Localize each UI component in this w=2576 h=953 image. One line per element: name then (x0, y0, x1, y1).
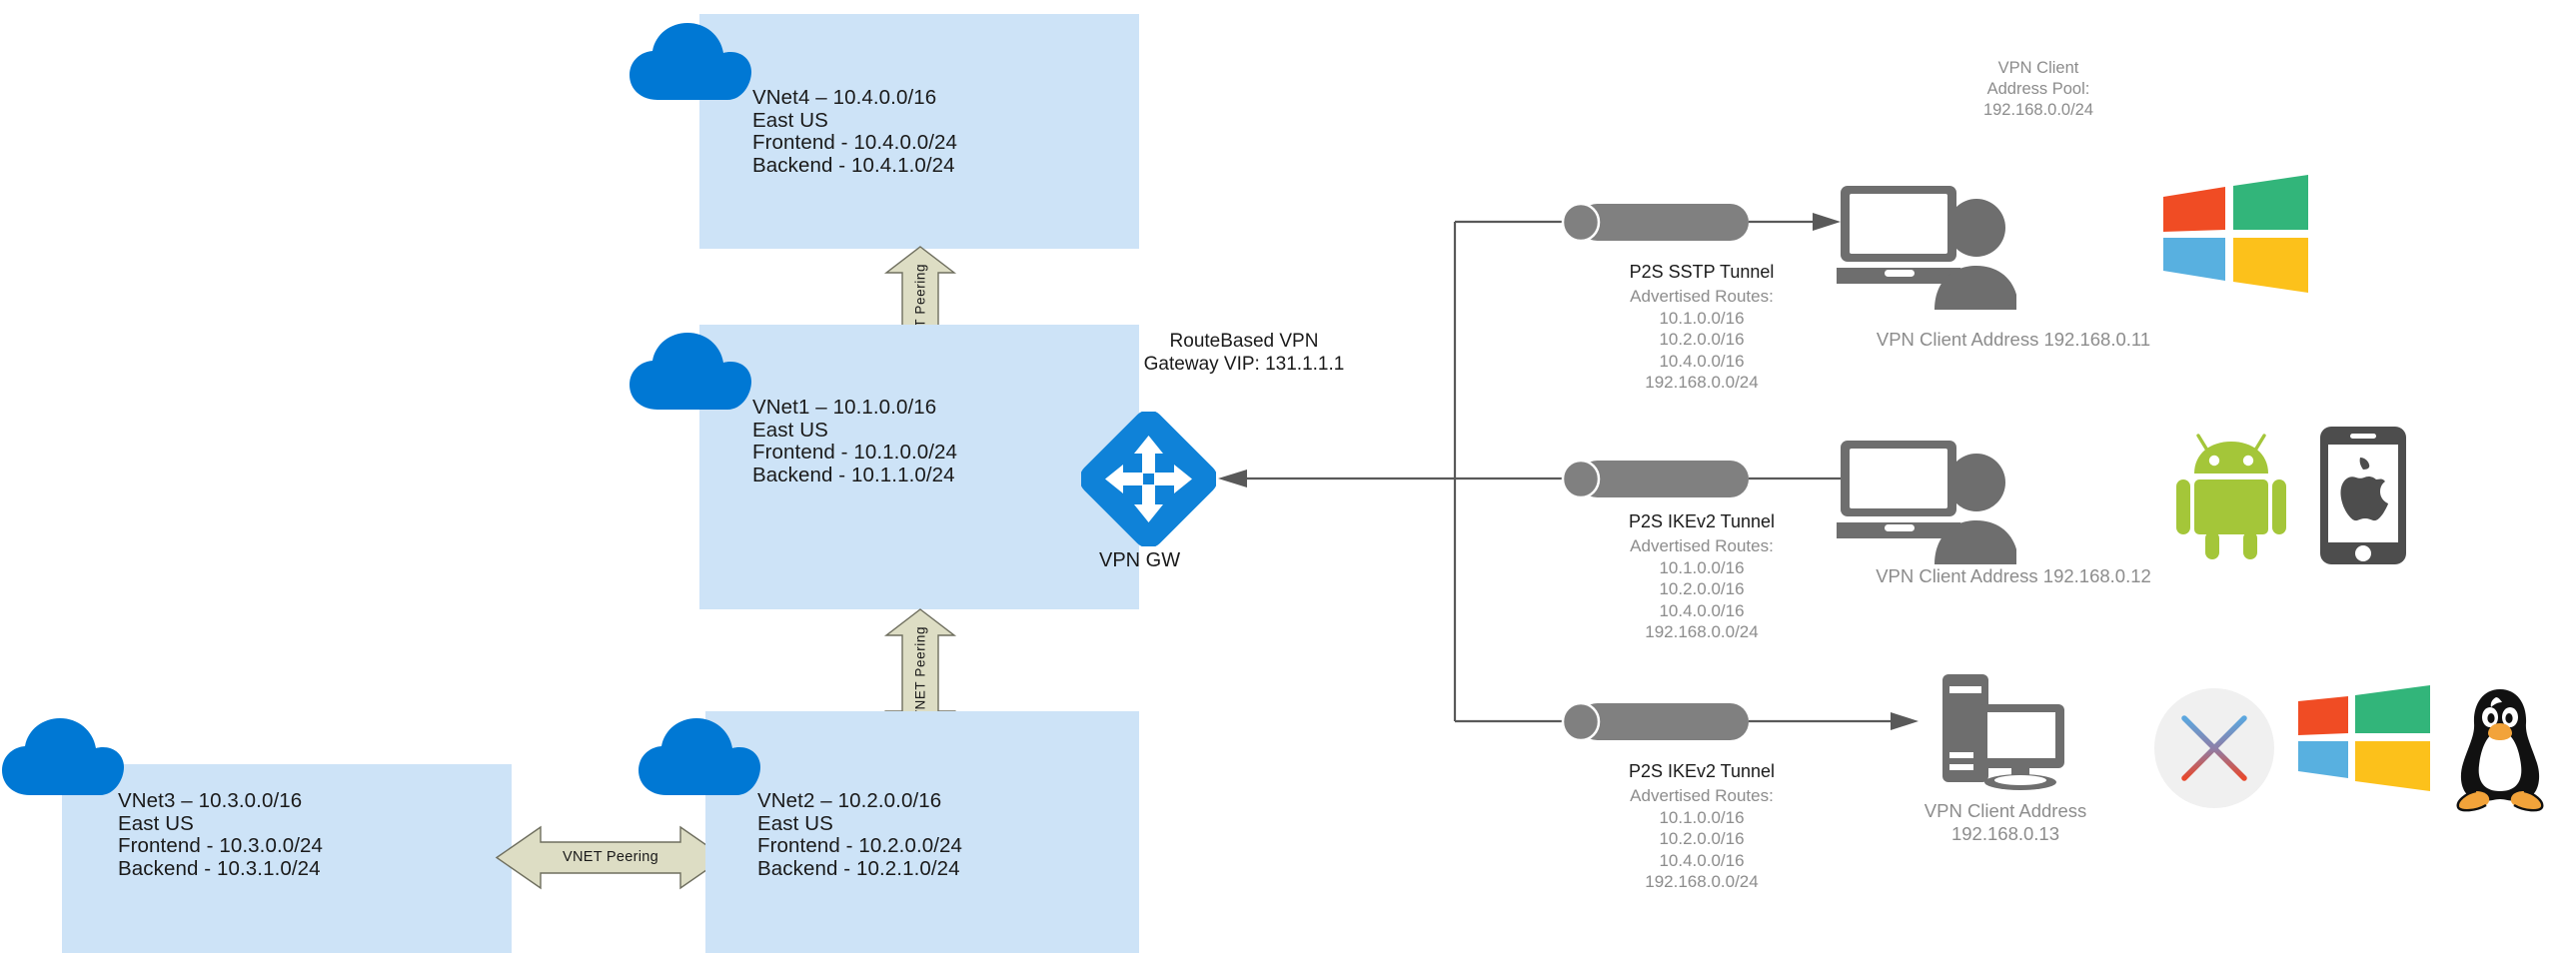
vnet2-name: VNet2 – 10.2.0.0/16 (757, 790, 962, 813)
vnet2-region: East US (757, 813, 962, 836)
tunnel-ikev2-mobile-route-3: 10.4.0.0/16 (1537, 600, 1867, 622)
pool-line2: Address Pool: (1899, 79, 2178, 100)
android-logo (2176, 432, 2286, 561)
tunnel-ikev2-mobile-routes-header: Advertised Routes: (1537, 535, 1867, 557)
vnet1-region: East US (752, 420, 957, 443)
vnet1-cloud-icon (628, 332, 752, 412)
windows-logo-row1 (2163, 175, 2308, 293)
vnet3-name: VNet3 – 10.3.0.0/16 (118, 790, 323, 813)
tunnel-sstp-client-line1: VPN Client Address 192.168.0.11 (1849, 328, 2178, 351)
vpn-client-address-pool-caption: VPN Client Address Pool: 192.168.0.0/24 (1899, 58, 2178, 121)
vnet3-cloud-icon (0, 717, 125, 797)
tunnel-sstp-pipe-icon[interactable] (1557, 200, 1757, 245)
diagram-canvas: VNet4 – 10.4.0.0/16 East US Frontend - 1… (0, 0, 2576, 953)
vnet4-text: VNet4 – 10.4.0.0/16 East US Frontend - 1… (752, 87, 957, 177)
tunnel-ikev2-mobile-route-2: 10.2.0.0/16 (1537, 578, 1867, 600)
tunnel-sstp-title: P2S SSTP Tunnel (1537, 262, 1867, 283)
tunnel-ikev2-desktop-client-line1: VPN Client Address (1861, 799, 2150, 822)
pool-line1: VPN Client (1899, 58, 2178, 79)
tunnel-ikev2-desktop-title: P2S IKEv2 Tunnel (1537, 761, 1867, 782)
tunnel-sstp-route-4: 192.168.0.0/24 (1537, 372, 1867, 394)
windows-logo-row3 (2298, 683, 2430, 811)
tunnel-sstp-client-caption: VPN Client Address 192.168.0.11 (1849, 328, 2178, 351)
tunnel-ikev2-desktop-client-line2: 192.168.0.13 (1861, 822, 2150, 845)
vnet3-frontend: Frontend - 10.3.0.0/24 (118, 835, 323, 858)
tunnel-sstp-routes-header: Advertised Routes: (1537, 286, 1867, 308)
tunnel-ikev2-desktop-pipe-icon[interactable] (1557, 699, 1757, 744)
vnet1-backend: Backend - 10.1.1.0/24 (752, 465, 957, 487)
vnet3-region: East US (118, 813, 323, 836)
tunnel-sstp-routes: Advertised Routes: 10.1.0.0/16 10.2.0.0/… (1537, 286, 1867, 394)
gateway-caption: RouteBased VPN Gateway VIP: 131.1.1.1 (1099, 330, 1389, 376)
tunnel-ikev2-mobile-client-caption: VPN Client Address 192.168.0.12 (1849, 564, 2178, 587)
peering-vnet3-vnet2-label: VNET Peering (495, 849, 726, 865)
tunnel-ikev2-desktop-routes: Advertised Routes: 10.1.0.0/16 10.2.0.0/… (1537, 785, 1867, 893)
tunnel-sstp-route-3: 10.4.0.0/16 (1537, 351, 1867, 373)
vnet4-name: VNet4 – 10.4.0.0/16 (752, 87, 957, 110)
gateway-label: VPN GW (1099, 549, 1180, 572)
laptop-user-icon-sstp (1837, 180, 2016, 310)
tunnel-ikev2-mobile-route-4: 192.168.0.0/24 (1537, 621, 1867, 643)
tunnel-ikev2-mobile-client-line1: VPN Client Address 192.168.0.12 (1849, 564, 2178, 587)
vnet2-frontend: Frontend - 10.2.0.0/24 (757, 835, 962, 858)
tunnel-ikev2-mobile-pipe-icon[interactable] (1557, 457, 1757, 501)
vnet4-frontend: Frontend - 10.4.0.0/24 (752, 132, 957, 155)
vnet2-cloud-icon (637, 717, 761, 797)
tunnel-ikev2-mobile-title: P2S IKEv2 Tunnel (1537, 511, 1867, 532)
pool-line3: 192.168.0.0/24 (1899, 100, 2178, 121)
vnet3-text: VNet3 – 10.3.0.0/16 East US Frontend - 1… (118, 790, 323, 880)
macos-x-logo (2153, 687, 2275, 809)
tunnel-ikev2-desktop-route-1: 10.1.0.0/16 (1537, 807, 1867, 829)
vnet4-backend: Backend - 10.4.1.0/24 (752, 155, 957, 178)
tunnel-ikev2-desktop-route-2: 10.2.0.0/16 (1537, 828, 1867, 850)
tunnel-ikev2-desktop-client-caption: VPN Client Address 192.168.0.13 (1861, 799, 2150, 845)
desktop-pc-icon (1940, 672, 2070, 792)
tunnel-sstp-route-2: 10.2.0.0/16 (1537, 329, 1867, 351)
vpn-gateway-icon[interactable] (1081, 412, 1216, 546)
tunnel-ikev2-mobile-routes: Advertised Routes: 10.1.0.0/16 10.2.0.0/… (1537, 535, 1867, 643)
peering-vnet3-vnet2: VNET Peering (495, 824, 726, 891)
vnet4-cloud-icon (628, 22, 752, 102)
vnet2-text: VNet2 – 10.2.0.0/16 East US Frontend - 1… (757, 790, 962, 880)
gateway-caption-line2: Gateway VIP: 131.1.1.1 (1099, 353, 1389, 376)
laptop-user-icon-ikev2-mobile (1837, 435, 2016, 564)
tunnel-ikev2-mobile-route-1: 10.1.0.0/16 (1537, 557, 1867, 579)
vnet3-backend: Backend - 10.3.1.0/24 (118, 858, 323, 881)
vnet1-name: VNet1 – 10.1.0.0/16 (752, 397, 957, 420)
vnet1-text: VNet1 – 10.1.0.0/16 East US Frontend - 1… (752, 397, 957, 486)
iphone-apple-logo (2318, 425, 2408, 566)
tunnel-sstp-route-1: 10.1.0.0/16 (1537, 308, 1867, 330)
vnet4-region: East US (752, 110, 957, 133)
gateway-caption-line1: RouteBased VPN (1099, 330, 1389, 353)
vnet2-backend: Backend - 10.2.1.0/24 (757, 858, 962, 881)
tunnel-ikev2-desktop-route-4: 192.168.0.0/24 (1537, 871, 1867, 893)
linux-tux-logo (2446, 687, 2554, 813)
vnet1-frontend: Frontend - 10.1.0.0/24 (752, 442, 957, 465)
tunnel-ikev2-desktop-route-3: 10.4.0.0/16 (1537, 850, 1867, 872)
tunnel-ikev2-desktop-routes-header: Advertised Routes: (1537, 785, 1867, 807)
